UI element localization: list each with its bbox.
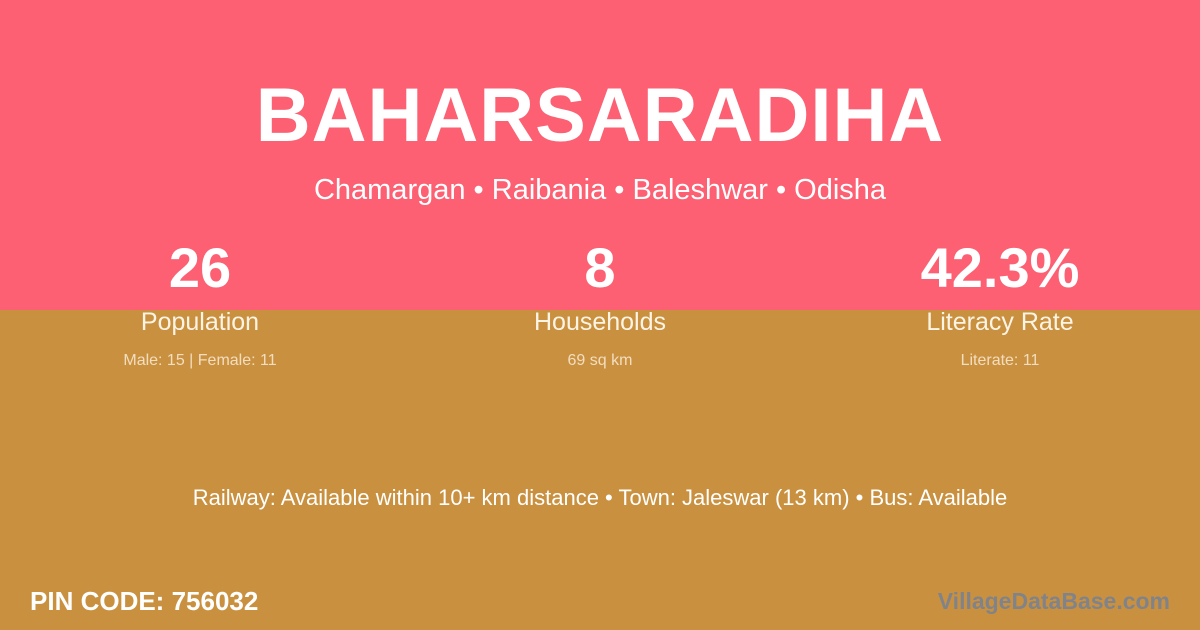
pin-code-label: PIN CODE: 756032 <box>30 588 258 614</box>
page-title: BAHARSARADIHA <box>256 78 945 154</box>
stat-value-households: 8 <box>584 240 615 302</box>
stat-label-households: Households <box>534 310 666 335</box>
transport-info-row: Railway: Available within 10+ km distanc… <box>0 487 1200 510</box>
card-header: BAHARSARADIHA Chamargan • Raibania • Bal… <box>0 0 1200 232</box>
stat-population: 26 Population Male: 15 | Female: 11 <box>0 240 400 369</box>
stat-label-literacy-rate: Literacy Rate <box>926 310 1073 335</box>
stat-sub-households: 69 sq km <box>568 353 633 369</box>
card-footer: PIN CODE: 756032 VillageDataBase.com <box>0 572 1200 630</box>
village-info-card: BAHARSARADIHA Chamargan • Raibania • Bal… <box>0 0 1200 630</box>
stat-value-literacy-rate: 42.3% <box>921 240 1080 302</box>
site-logo: VillageDataBase.com <box>938 590 1170 613</box>
stat-sub-literacy-rate: Literate: 11 <box>961 353 1040 369</box>
stat-households: 8 Households 69 sq km <box>400 240 800 369</box>
stat-sub-population: Male: 15 | Female: 11 <box>123 353 276 369</box>
statistics-row: 26 Population Male: 15 | Female: 11 8 Ho… <box>0 240 1200 369</box>
stat-value-population: 26 <box>169 240 231 302</box>
breadcrumb: Chamargan • Raibania • Baleshwar • Odish… <box>314 176 886 205</box>
transport-info-text: Railway: Available within 10+ km distanc… <box>193 485 1008 510</box>
stat-label-population: Population <box>141 310 259 335</box>
stat-literacy-rate: 42.3% Literacy Rate Literate: 11 <box>800 240 1200 369</box>
